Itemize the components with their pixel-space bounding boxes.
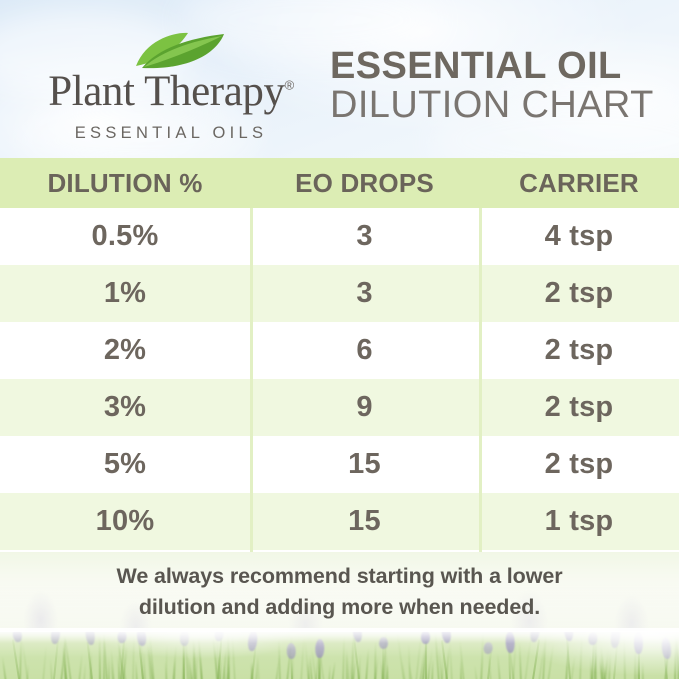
footer-note-line-2: dilution and adding more when needed. <box>117 592 563 623</box>
lavender-flower-spike <box>505 631 515 653</box>
grass-blade <box>278 639 281 679</box>
brand-name: Plant Therapy <box>48 68 284 115</box>
cell-drops: 3 <box>250 208 479 265</box>
lavender-flower-spike <box>660 637 671 659</box>
cell-carrier: 4 tsp <box>479 208 679 265</box>
lavender-stalk <box>12 639 20 679</box>
grass-blade <box>431 659 434 679</box>
brand-logo: Plant Therapy® ESSENTIAL OILS <box>40 32 302 136</box>
lavender-flower-spike <box>610 631 621 648</box>
brand-tagline: ESSENTIAL OILS <box>40 124 302 143</box>
cell-dilution: 1% <box>0 265 250 322</box>
lavender-flower-spike <box>247 631 258 651</box>
lavender-flower-spike <box>634 631 643 654</box>
cell-dilution: 3% <box>0 379 250 436</box>
grass-blade <box>365 648 370 679</box>
grass-blade <box>200 657 203 679</box>
lavender-flower-spike <box>180 631 189 646</box>
column-header-dilution: DILUTION % <box>0 158 250 208</box>
grass-blade <box>497 653 501 679</box>
cell-drops: 9 <box>250 379 479 436</box>
lavender-flower-spike <box>421 631 430 644</box>
column-header-carrier: CARRIER <box>479 158 679 208</box>
lavender-flower-spike <box>588 632 598 645</box>
grass-blade <box>78 653 83 679</box>
cell-drops: 15 <box>250 493 479 550</box>
grass-blade <box>1 656 7 679</box>
grass-blade <box>83 662 87 679</box>
table-row: 0.5% 3 4 tsp <box>0 208 679 265</box>
registered-mark: ® <box>285 78 294 93</box>
grass-blade <box>135 660 138 679</box>
table-header-row: DILUTION % EO DROPS CARRIER <box>0 158 679 208</box>
grass-blade <box>257 657 260 679</box>
cell-drops: 15 <box>250 436 479 493</box>
cell-dilution: 2% <box>0 322 250 379</box>
cell-carrier: 2 tsp <box>479 379 679 436</box>
lavender-stalk <box>290 656 293 679</box>
lavender-stalk <box>638 651 640 679</box>
cell-drops: 6 <box>250 322 479 379</box>
grass-blade <box>449 641 453 679</box>
lavender-stalk <box>425 641 427 679</box>
cell-drops: 3 <box>250 265 479 322</box>
table-row: 3% 9 2 tsp <box>0 379 679 436</box>
cell-carrier: 1 tsp <box>479 493 679 550</box>
cell-carrier: 2 tsp <box>479 436 679 493</box>
grass-blade <box>132 634 135 679</box>
lavender-flower-spike <box>315 639 325 658</box>
table-row: 5% 15 2 tsp <box>0 436 679 493</box>
grass-blade <box>524 636 532 679</box>
footer-note-text: We always recommend starting with a lowe… <box>117 561 563 622</box>
cell-carrier: 2 tsp <box>479 322 679 379</box>
lavender-flower-spike <box>379 637 388 649</box>
grass-blade <box>547 643 555 679</box>
dilution-table: DILUTION % EO DROPS CARRIER 0.5% 3 4 tsp… <box>0 158 679 552</box>
grass-blade <box>641 661 643 679</box>
footer-seam <box>0 628 679 632</box>
grass-blade <box>518 642 521 679</box>
column-header-eo-drops: EO DROPS <box>250 158 479 208</box>
cell-dilution: 10% <box>0 493 250 550</box>
table-row: 2% 6 2 tsp <box>0 322 679 379</box>
title-line-1: ESSENTIAL OIL <box>330 47 650 86</box>
lavender-flower-spike <box>287 643 297 659</box>
footer-note: We always recommend starting with a lowe… <box>0 552 679 631</box>
lavender-field-image <box>0 631 679 679</box>
grass-blade <box>99 636 101 679</box>
grass-blade <box>608 652 611 679</box>
lavender-flower-spike <box>214 631 224 641</box>
grass-blade <box>300 638 305 679</box>
table-row: 1% 3 2 tsp <box>0 265 679 322</box>
lavender-stalk <box>382 646 384 679</box>
cell-dilution: 0.5% <box>0 208 250 265</box>
grass-blade <box>579 636 583 679</box>
grass-blade <box>374 641 377 679</box>
brand-wordmark: Plant Therapy® <box>40 70 302 113</box>
footer-note-line-1: We always recommend starting with a lowe… <box>117 561 563 592</box>
table-row: 10% 15 1 tsp <box>0 493 679 550</box>
cell-dilution: 5% <box>0 436 250 493</box>
lavender-stalk <box>53 641 59 679</box>
lavender-flower-spike <box>50 631 61 645</box>
lavender-haze-overlay <box>0 631 679 679</box>
grass-blade <box>473 665 477 679</box>
cell-carrier: 2 tsp <box>479 265 679 322</box>
dilution-chart-page: Plant Therapy® ESSENTIAL OILS ESSENTIAL … <box>0 0 679 679</box>
grass-blade <box>42 645 47 679</box>
grass-blade <box>331 661 336 679</box>
title-line-2: DILUTION CHART <box>330 86 650 126</box>
page-title: ESSENTIAL OIL DILUTION CHART <box>330 47 650 125</box>
lavender-stalk <box>613 644 618 679</box>
grass-blade <box>623 636 626 679</box>
grass-blade <box>232 635 237 679</box>
